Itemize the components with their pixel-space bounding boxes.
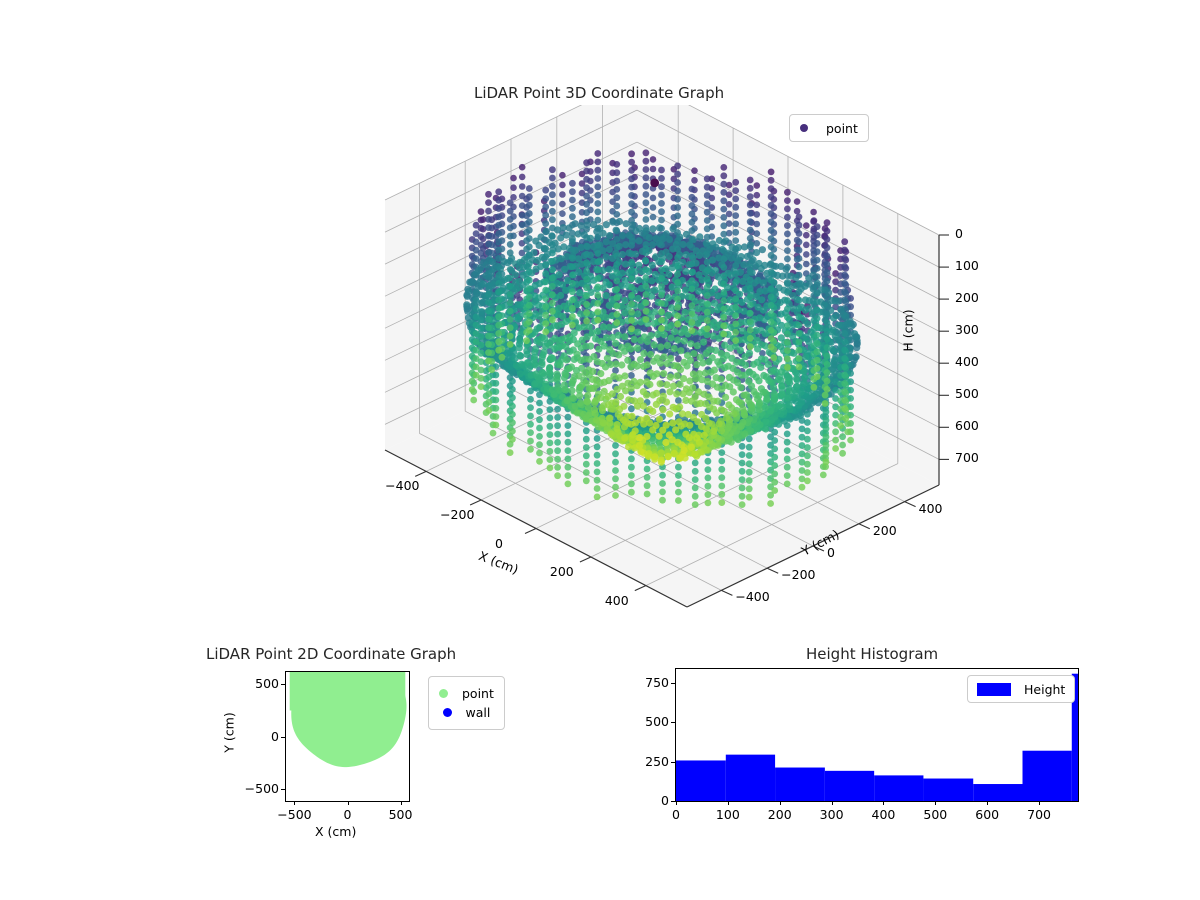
histogram-x-tick (832, 801, 833, 805)
histogram-y-tick (671, 722, 675, 723)
axis-x-tick-label: −400 (385, 478, 419, 493)
legend-height-label: Height (1024, 682, 1065, 697)
plot-2d-x-tick (294, 801, 295, 805)
histogram-x-tick (987, 801, 988, 805)
histogram-x-tick-label: 600 (965, 807, 1009, 822)
plot-2d-point-cloud (286, 672, 409, 801)
axis-h-tick-label: 0 (955, 226, 963, 241)
histogram-y-tick (671, 762, 675, 763)
axis-y-tick-label: 400 (919, 501, 943, 516)
axis-y-tick-label: 0 (827, 545, 835, 560)
plot-2d-x-tick (348, 801, 349, 805)
histogram-x-tick-label: 300 (810, 807, 854, 822)
legend-point-marker-icon (439, 689, 448, 698)
histogram-y-tick-label: 0 (633, 793, 669, 808)
plot-2d-x-tick-label: 0 (326, 807, 370, 822)
histogram-y-tick-label: 250 (633, 754, 669, 769)
histogram-legend[interactable]: Height (967, 675, 1075, 703)
histogram-x-tick-label: 200 (758, 807, 802, 822)
legend-wall-label: wall (466, 705, 491, 720)
legend-wall-marker-icon (443, 708, 452, 717)
histogram-x-tick-label: 100 (706, 807, 750, 822)
plot-2d-x-tick (401, 801, 402, 805)
plot-2d-legend[interactable]: point wall (428, 676, 505, 730)
histogram-x-tick-label: 0 (654, 807, 698, 822)
plot-2d-y-tick (281, 737, 285, 738)
plot-2d-y-tick-label: −500 (239, 781, 279, 796)
axis-h-label: H (cm) (901, 309, 916, 351)
axis-h-tick-label: 500 (955, 386, 979, 401)
axis-h-tick-label: 100 (955, 258, 979, 273)
plot-2d-axes (285, 671, 410, 802)
plot-2d-y-axis-label: Y (cm) (222, 712, 237, 752)
plot-2d-title: LiDAR Point 2D Coordinate Graph (206, 645, 456, 663)
legend-point-label: point (462, 686, 494, 701)
legend-height-swatch-icon (977, 683, 1011, 696)
matplotlib-figure: LiDAR Point 3D Coordinate Graph point −4… (0, 0, 1200, 900)
plot-2d-y-tick (281, 789, 285, 790)
axis-h-tick-label: 400 (955, 354, 979, 369)
axis-h-tick-label: 300 (955, 322, 979, 337)
plot-3d-canvas (330, 105, 950, 625)
histogram-x-tick-label: 400 (861, 807, 905, 822)
plot-2d-x-tick-label: −500 (272, 807, 316, 822)
histogram-x-tick-label: 500 (913, 807, 957, 822)
axis-x-tick-label: −200 (440, 507, 474, 522)
plot-2d-x-tick-label: 500 (379, 807, 423, 822)
axis-h-tick-label: 700 (955, 450, 979, 465)
histogram-y-tick-label: 500 (633, 714, 669, 729)
axis-y-tick-label: 200 (873, 523, 897, 538)
legend-row-point: point (439, 686, 494, 701)
histogram-x-tick (728, 801, 729, 805)
plot-2d-y-tick-label: 0 (239, 729, 279, 744)
histogram-y-tick (671, 683, 675, 684)
histogram-x-tick (883, 801, 884, 805)
axis-y-tick-label: −400 (735, 589, 769, 604)
histogram-y-tick-label: 750 (633, 675, 669, 690)
histogram-x-tick-label: 700 (1017, 807, 1061, 822)
histogram-x-tick (935, 801, 936, 805)
plot-2d-y-tick-label: 500 (239, 676, 279, 691)
histogram-y-tick (671, 801, 675, 802)
axis-x-tick-label: 200 (550, 564, 574, 579)
plot-2d-x-axis-label: X (cm) (315, 824, 356, 839)
axis-x-tick-label: 400 (605, 593, 629, 608)
histogram-x-tick (780, 801, 781, 805)
plot-3d-title: LiDAR Point 3D Coordinate Graph (474, 84, 724, 102)
histogram-title: Height Histogram (806, 645, 938, 663)
axis-x-tick-label: 0 (495, 536, 503, 551)
histogram-x-tick (1039, 801, 1040, 805)
legend-row-wall: wall (443, 705, 491, 720)
axis-h-tick-label: 200 (955, 290, 979, 305)
histogram-x-tick (676, 801, 677, 805)
axis-y-tick-label: −200 (781, 567, 815, 582)
axis-h-tick-label: 600 (955, 418, 979, 433)
plot-2d-y-tick (281, 684, 285, 685)
